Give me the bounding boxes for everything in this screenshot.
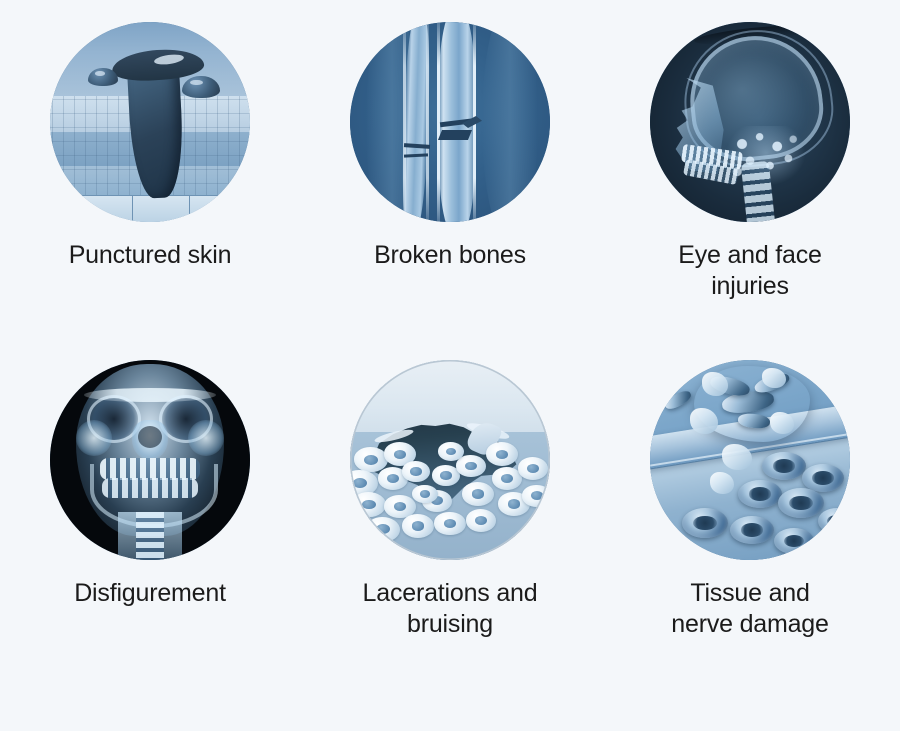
caption-broken-bones: Broken bones (374, 240, 526, 271)
cell-cluster (350, 440, 550, 560)
upper-teeth-row (100, 458, 200, 480)
tissue-cell (412, 485, 438, 504)
caption-tissue-and-nerve-damage: Tissue and nerve damage (671, 578, 828, 640)
frontal-skull-xray-icon (50, 360, 250, 560)
tissue-debris (690, 408, 718, 434)
caption-disfigurement: Disfigurement (74, 578, 226, 609)
tissue-debris (770, 412, 794, 434)
tissue-cell (462, 482, 494, 506)
red-blood-cell (778, 488, 824, 518)
zygomatic-arch-left (76, 420, 112, 456)
fracture-line (438, 130, 472, 140)
injury-grid: Punctured skin (0, 22, 900, 698)
tissue-cell (522, 485, 550, 507)
laceration-illustration-icon (350, 360, 550, 560)
tissue-cell (434, 512, 466, 536)
blood-droplet-icon (88, 68, 118, 86)
bone-cortical-edge (403, 22, 406, 222)
grid-item-broken-bones[interactable]: Broken bones (300, 22, 600, 360)
circle-wrap-lacerations-and-bruising (350, 360, 550, 560)
cervical-spine (136, 512, 164, 560)
injury-types-board: Punctured skin (0, 0, 900, 731)
tissue-cell (518, 457, 548, 479)
zygomatic-arch-right (188, 420, 224, 456)
grid-item-punctured-skin[interactable]: Punctured skin (0, 22, 300, 360)
nasal-aperture (138, 426, 162, 448)
tissue-cell (366, 517, 400, 542)
red-blood-cell (730, 516, 774, 544)
caption-eye-and-face-injuries: Eye and face injuries (678, 240, 822, 302)
red-blood-cell (774, 528, 814, 554)
circle-wrap-punctured-skin (50, 22, 250, 222)
tissue-cell (438, 442, 464, 461)
tissue-nerve-damage-micrograph-icon (650, 360, 850, 560)
punctured-skin-illustration-icon (50, 22, 250, 222)
circle-wrap-disfigurement (50, 360, 250, 560)
lower-teeth-row (102, 478, 198, 498)
blood-droplet-icon (182, 76, 220, 98)
circle-wrap-broken-bones (350, 22, 550, 222)
caption-lacerations-and-bruising: Lacerations and bruising (363, 578, 538, 640)
circle-wrap-tissue-and-nerve-damage (650, 360, 850, 560)
vessel-segment (131, 196, 133, 222)
red-blood-cell (818, 508, 850, 534)
vessel-segment (73, 196, 75, 222)
red-blood-cell (738, 480, 782, 508)
tissue-cell (352, 492, 386, 517)
grid-item-tissue-and-nerve-damage[interactable]: Tissue and nerve damage (600, 360, 900, 698)
tissue-debris (702, 372, 728, 396)
tissue-debris (722, 444, 752, 470)
caption-punctured-skin: Punctured skin (69, 240, 232, 271)
red-blood-cell (682, 508, 728, 538)
circle-wrap-eye-and-face-injuries (650, 22, 850, 222)
grid-item-disfigurement[interactable]: Disfigurement (0, 360, 300, 698)
vessel-segment (188, 196, 190, 222)
blood-vessel-band (50, 195, 250, 222)
bone-cortical-edge (426, 22, 429, 222)
tissue-cell (486, 442, 518, 466)
grid-item-eye-and-face-injuries[interactable]: Eye and face injuries (600, 22, 900, 360)
broken-bones-xray-icon (350, 22, 550, 222)
soft-tissue-shadow (482, 22, 538, 222)
tissue-debris (710, 472, 734, 494)
lateral-skull-xray-icon (650, 22, 850, 222)
red-blood-cell (762, 452, 806, 480)
grid-item-lacerations-and-bruising[interactable]: Lacerations and bruising (300, 360, 600, 698)
tissue-cell (466, 509, 496, 531)
tissue-cell (456, 455, 486, 477)
tissue-debris (762, 368, 786, 388)
tissue-cell (402, 461, 430, 482)
tissue-cell (402, 514, 434, 538)
